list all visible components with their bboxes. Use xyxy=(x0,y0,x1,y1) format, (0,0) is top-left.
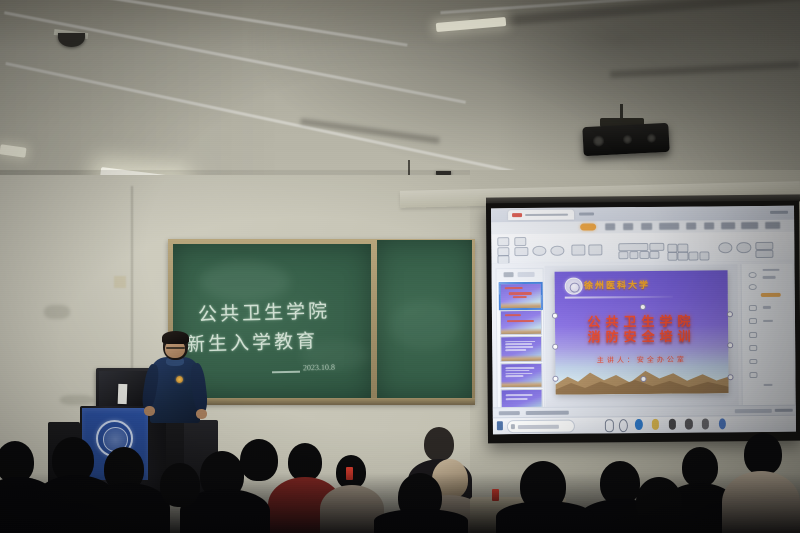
mail-icon[interactable] xyxy=(685,419,692,430)
blackboard-date: 2023.10.8 xyxy=(303,363,335,373)
slide-thumbnail-3[interactable] xyxy=(500,336,543,362)
sidebar-grid-icon[interactable] xyxy=(749,305,758,311)
ribbon-tab-slideshow[interactable] xyxy=(686,223,696,230)
text-box-button[interactable] xyxy=(588,244,602,255)
task-view-icon[interactable] xyxy=(605,420,614,433)
wall-patch xyxy=(114,276,126,288)
sidebar-media-icon[interactable] xyxy=(749,332,758,338)
right-tool-sidebar[interactable] xyxy=(740,264,793,414)
quick-access-toolbar[interactable] xyxy=(579,212,594,215)
ribbon-tab-section[interactable] xyxy=(741,222,757,229)
selection-handle-left-3[interactable] xyxy=(552,375,558,381)
status-theme-name xyxy=(526,410,568,415)
slide-thumbnail-panel[interactable] xyxy=(496,268,545,417)
chrome-icon[interactable] xyxy=(719,419,726,430)
projector-lens-icon xyxy=(593,135,605,147)
arrange-button[interactable] xyxy=(737,242,751,253)
align-left-button[interactable] xyxy=(667,252,678,261)
selection-handle-right-2[interactable] xyxy=(727,342,733,348)
sidebar-export-icon[interactable] xyxy=(749,372,758,378)
paste-button[interactable] xyxy=(497,237,509,247)
section-button[interactable] xyxy=(572,244,586,255)
ribbon-tab-view[interactable] xyxy=(721,222,734,229)
selection-handle-left[interactable] xyxy=(552,312,558,318)
av-cabinet-left xyxy=(48,422,80,492)
status-slide-counter xyxy=(499,411,520,416)
ribbon-toolbar xyxy=(491,231,794,264)
presenter-glasses-icon xyxy=(166,347,185,349)
ppt-file-icon xyxy=(512,213,521,217)
edge-icon[interactable] xyxy=(635,419,642,430)
university-logo-icon xyxy=(565,278,583,295)
sidebar-shape-icon[interactable] xyxy=(748,284,757,290)
sidebar-promo-chip[interactable] xyxy=(761,292,781,296)
sidebar-design-icon[interactable] xyxy=(748,272,757,278)
ribbon-tab-home[interactable] xyxy=(581,224,596,231)
start-button-icon[interactable] xyxy=(496,422,502,431)
layout-button[interactable] xyxy=(532,245,546,256)
windows-taskbar xyxy=(493,414,796,434)
podium-paper xyxy=(118,384,128,404)
selection-handle-right[interactable] xyxy=(727,311,733,317)
wps-icon[interactable] xyxy=(702,419,709,430)
align-right-button[interactable] xyxy=(688,252,699,261)
format-painter-button[interactable] xyxy=(514,237,526,247)
slide-title-line2: 消防安全培训 xyxy=(555,326,728,347)
window-controls[interactable] xyxy=(770,211,788,214)
sidebar-chart-icon[interactable] xyxy=(749,318,758,324)
ribbon-tab-animations[interactable] xyxy=(660,223,679,230)
projector-sensor-icon xyxy=(647,133,656,142)
zoom-slider[interactable] xyxy=(775,409,793,412)
slide-canvas-area[interactable]: 徐州医科大学 公共卫生学院 消防安全培训 主讲人：安全办公室 xyxy=(545,264,739,415)
wall-scuff xyxy=(44,305,70,319)
cortana-icon[interactable] xyxy=(619,419,628,432)
ribbon-tab-cloud[interactable] xyxy=(765,222,780,229)
ribbon-tab-design[interactable] xyxy=(623,223,633,230)
taskbar-search-input[interactable] xyxy=(506,420,575,434)
lecture-hall-photo: 公共卫生学院 新生入学教育 2023.10.8 xyxy=(0,0,800,533)
projected-image: 徐州医科大学 公共卫生学院 消防安全培训 主讲人：安全办公室 xyxy=(491,206,796,435)
new-slide-button[interactable] xyxy=(514,247,529,257)
projector-lens-secondary-icon xyxy=(623,135,632,144)
ribbon-tab-review[interactable] xyxy=(704,223,714,230)
wall-scuff-2 xyxy=(60,395,94,405)
view-buttons[interactable] xyxy=(735,409,771,414)
font-size-select[interactable] xyxy=(649,243,665,252)
sidebar-table-icon[interactable] xyxy=(749,345,758,351)
replace-button[interactable] xyxy=(755,250,774,259)
blackboard-text-line1: 公共卫生学院 xyxy=(198,296,331,327)
reset-button[interactable] xyxy=(550,245,564,256)
ribbon-tab-transitions[interactable] xyxy=(641,223,651,230)
wps-presentation-window: 徐州医科大学 公共卫生学院 消防安全培训 主讲人：安全办公室 xyxy=(491,206,796,435)
shape-fill-button[interactable] xyxy=(719,243,733,254)
presenter-lapel-pin xyxy=(176,376,183,383)
line-spacing-button[interactable] xyxy=(699,252,710,261)
font-color-button[interactable] xyxy=(650,251,660,260)
editor-body: 徐州医科大学 公共卫生学院 消防安全培训 主讲人：安全办公室 xyxy=(491,261,795,420)
store-icon[interactable] xyxy=(669,419,676,430)
underline-button[interactable] xyxy=(639,251,649,260)
presenter-hair xyxy=(162,331,189,344)
presenter-right-hand xyxy=(196,409,207,419)
thumbnail-panel-header xyxy=(497,269,543,281)
ceiling-projector xyxy=(582,123,669,156)
presenter-left-hand xyxy=(144,406,155,416)
bold-button[interactable] xyxy=(619,251,629,260)
ribbon-tab-insert[interactable] xyxy=(605,223,615,230)
align-center-button[interactable] xyxy=(678,252,689,261)
file-tab[interactable] xyxy=(508,209,575,219)
slide-thumbnail-1[interactable] xyxy=(499,283,542,309)
selection-handle-bottom[interactable] xyxy=(640,376,646,382)
slide-divider xyxy=(565,296,672,299)
selection-handle-top[interactable] xyxy=(639,304,645,310)
projection-screen: 徐州医科大学 公共卫生学院 消防安全培训 主讲人：安全办公室 xyxy=(486,201,800,444)
italic-button[interactable] xyxy=(629,251,639,260)
presenter xyxy=(146,330,216,440)
slide-thumbnail-2[interactable] xyxy=(499,310,542,336)
explorer-icon[interactable] xyxy=(652,419,659,430)
slide-brand-text: 徐州医科大学 xyxy=(584,278,650,292)
selection-handle-right-3[interactable] xyxy=(728,374,734,380)
wall-seam xyxy=(131,186,133,386)
slide-thumbnail-4[interactable] xyxy=(500,362,543,388)
university-seal-icon xyxy=(96,420,133,457)
sidebar-text-icon[interactable] xyxy=(749,359,758,365)
